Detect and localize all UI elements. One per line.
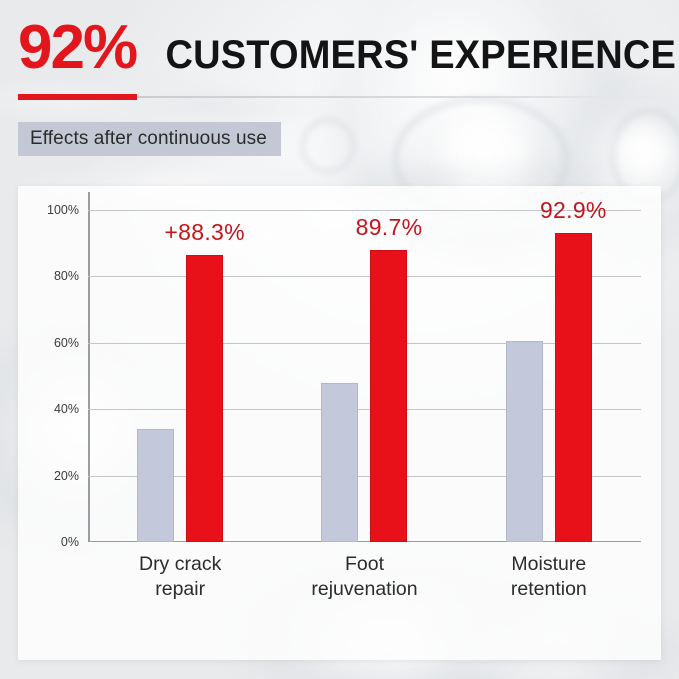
bar-value-label: 92.9% <box>540 197 607 224</box>
headline-title: CUSTOMERS' EXPERIENCE <box>166 35 677 75</box>
y-tick-label: 20% <box>54 469 79 483</box>
bar-baseline[interactable] <box>321 383 358 542</box>
subtitle-chip: Effects after continuous use <box>18 122 281 156</box>
header: 92% CUSTOMERS' EXPERIENCE Effects after … <box>0 0 679 175</box>
thin-rule <box>137 96 668 98</box>
title-row: 92% CUSTOMERS' EXPERIENCE <box>18 17 679 79</box>
header-divider <box>18 94 668 100</box>
y-tick-label: 80% <box>54 269 79 283</box>
category-label-line: retention <box>457 577 641 602</box>
bar-value-label: +88.3% <box>164 219 244 246</box>
category-label-line: Moisture <box>457 552 641 577</box>
x-axis-category-labels: Dry crackrepairFootrejuvenationMoisturer… <box>88 552 641 602</box>
category-label: Dry crackrepair <box>88 552 272 602</box>
y-tick-label: 40% <box>54 402 79 416</box>
plot-area: 0%20%40%60%80%100% +88.3%89.7%92.9% <box>88 210 641 542</box>
bar-result[interactable]: 89.7% <box>370 250 407 542</box>
bar-baseline[interactable] <box>137 429 174 542</box>
y-tick-label: 100% <box>47 203 79 217</box>
y-tick-label: 0% <box>61 535 79 549</box>
bar-baseline[interactable] <box>506 341 543 542</box>
bar-value-label: 89.7% <box>356 214 423 241</box>
bar-result[interactable]: 92.9% <box>555 233 592 542</box>
bar-group: 92.9% <box>457 210 641 542</box>
y-tick-label: 60% <box>54 336 79 350</box>
headline-stat: 92% <box>18 17 136 79</box>
bar-group: 89.7% <box>272 210 456 542</box>
category-label: Moistureretention <box>457 552 641 602</box>
category-label-line: repair <box>88 577 272 602</box>
bar-groups: +88.3%89.7%92.9% <box>88 210 641 542</box>
chart-panel: 0%20%40%60%80%100% +88.3%89.7%92.9% Dry … <box>18 186 661 660</box>
category-label: Footrejuvenation <box>272 552 456 602</box>
bar-group: +88.3% <box>88 210 272 542</box>
category-label-line: Dry crack <box>88 552 272 577</box>
bar-result[interactable]: +88.3% <box>186 255 223 542</box>
category-label-line: rejuvenation <box>272 577 456 602</box>
category-label-line: Foot <box>272 552 456 577</box>
accent-rule <box>18 94 137 100</box>
